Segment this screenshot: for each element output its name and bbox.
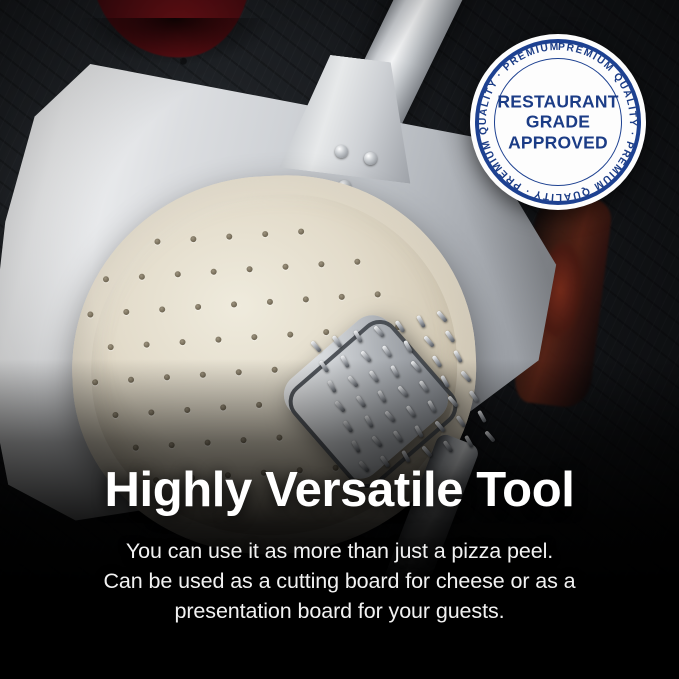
dough-hole [240,437,246,443]
docker-spike [453,350,463,363]
docker-spike [414,425,424,438]
dough-hole [87,311,93,317]
dough-hole [103,276,109,282]
docker-spike [310,340,322,352]
dough-hole [143,341,149,347]
tomato-wedge-shadow [80,18,270,64]
dough-hole [159,306,165,312]
dough-hole [200,372,206,378]
docker-spike [406,405,417,418]
dough-hole [282,264,288,270]
docker-spike [356,395,367,408]
docker-spike [390,365,400,378]
page-title: Highly Versatile Tool [0,466,679,515]
docker-spike [351,440,361,453]
dough-hole [179,339,185,345]
dough-hole [123,309,129,315]
docker-spike [393,430,404,443]
docker-spike [403,340,413,353]
dough-hole [139,274,145,280]
dough-hole [128,377,134,383]
dough-hole [262,231,268,237]
handle-rivet [364,152,377,165]
dough-hole [190,236,196,242]
handle-rivet [335,145,348,158]
dough-hole [246,266,252,272]
description-line-2: Can be used as a cutting board for chees… [0,566,679,596]
dough-hole [318,261,324,267]
docker-spike [423,335,435,347]
docker-spike [419,380,430,393]
docker-spike [410,360,422,372]
docker-spike [421,445,433,457]
product-marketing-image: PREMIUM QUALITY · PREMIUM QUALITY · PREM… [0,0,679,679]
seal-line-3: APPROVED [492,132,624,152]
docker-spike [327,380,337,393]
dough-hole [226,233,232,239]
docker-spike [427,400,437,413]
docker-spike [395,320,406,333]
restaurant-grade-approved-seal: PREMIUM QUALITY · PREMIUM QUALITY · PREM… [470,34,646,210]
docker-spike [377,390,387,403]
docker-spike [319,360,330,373]
dough-hole [92,379,98,385]
docker-spike [369,370,380,383]
dough-hole [168,442,174,448]
docker-spike [445,330,456,343]
docker-spike [364,415,374,428]
description-line-3: presentation board for your guests. [0,596,679,626]
docker-spike [347,375,359,387]
dough-hole [231,301,237,307]
docker-spike [397,385,409,397]
dough-hole [184,407,190,413]
dough-hole [204,439,210,445]
dough-hole [298,228,304,234]
docker-spike [353,330,363,343]
docker-spike [434,420,446,432]
docker-spike [343,420,354,433]
dough-hole [354,259,360,265]
dough-hole [148,409,154,415]
docker-spike [432,355,443,368]
dough-hole [195,304,201,310]
docker-spike [382,345,393,358]
dough-hole [339,294,345,300]
docker-spike [443,440,454,453]
docker-spike [440,375,450,388]
dough-hole [215,336,221,342]
dough-hole [303,296,309,302]
dough-hole [112,412,118,418]
docker-spike [371,435,383,447]
description-text: You can use it as more than just a pizza… [0,536,679,626]
description-line-1: You can use it as more than just a pizza… [0,536,679,566]
docker-spike [401,450,411,463]
dough-hole [236,369,242,375]
docker-spike [447,395,459,407]
seal-line-1: RESTAURANT [492,92,624,112]
docker-spike [332,335,343,348]
dough-hole [374,291,380,297]
docker-spike [373,325,385,337]
dough-hole [251,334,257,340]
seal-line-2: GRADE [492,112,624,132]
dough-hole [210,269,216,275]
dough-hole [154,238,160,244]
docker-spike [340,355,350,368]
dough-hole [267,299,273,305]
dough-hole [133,444,139,450]
docker-spike [334,400,346,412]
dough-hole [175,271,181,277]
docker-spike [384,410,396,422]
dough-hole [107,344,113,350]
seal-center-text: RESTAURANT GRADE APPROVED [470,92,646,153]
dough-hole [164,374,170,380]
docker-spike [360,350,372,362]
dough-hole [220,404,226,410]
